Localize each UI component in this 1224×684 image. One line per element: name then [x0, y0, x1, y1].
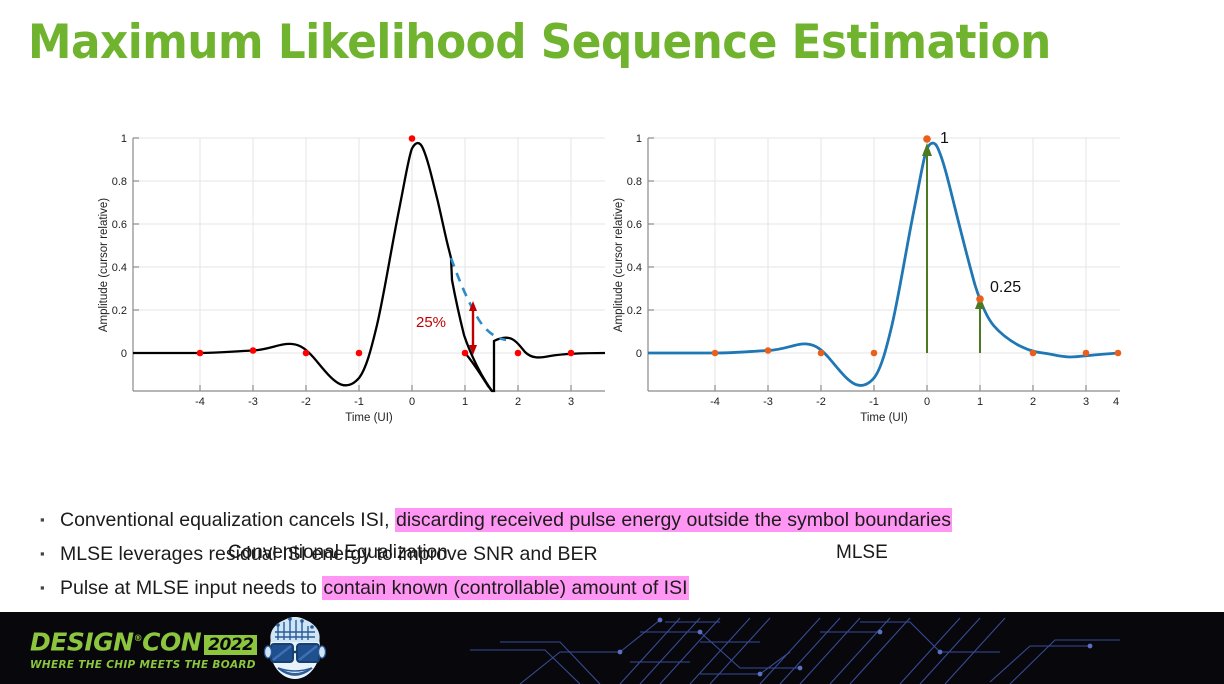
chart-left-svg: 1 0.8 0.6 0.4 0.2 0 -4 -3 -2 -1 0 1 2 3 [85, 110, 645, 470]
data-marker [515, 350, 522, 357]
bullet-list: ▪ Conventional equalization cancels ISI,… [40, 505, 1200, 607]
data-marker [923, 135, 931, 143]
y-tick-label: 0.2 [627, 305, 642, 317]
list-item: ▪ Pulse at MLSE input needs to contain k… [40, 573, 1200, 603]
annotation-25-percent-arrow [469, 301, 477, 355]
logo-con-text: CON [142, 627, 201, 656]
y-tick-label: 0.4 [112, 262, 127, 274]
data-marker [197, 350, 204, 357]
data-marker [818, 350, 825, 357]
bullet-text: MLSE leverages residual ISI energy to im… [60, 539, 1200, 569]
x-tick-label: -3 [248, 396, 258, 408]
list-item: ▪ MLSE leverages residual ISI energy to … [40, 539, 1200, 569]
data-marker [765, 347, 772, 354]
designcon-logo: DESIGN®CON2022 WHERE THE CHIP MEETS THE … [30, 626, 235, 670]
x-tick-label: 2 [1030, 396, 1036, 408]
y-axis-label: Amplitude (cursor relative) [613, 198, 625, 332]
chart-conventional-equalization: 1 0.8 0.6 0.4 0.2 0 -4 -3 -2 -1 0 1 2 3 [85, 110, 645, 470]
annotation-arrow-main [922, 143, 932, 353]
data-marker [1083, 350, 1090, 357]
logo-design-text: DESIGN [30, 627, 134, 656]
x-tick-label: 1 [977, 396, 983, 408]
annotation-label-main: 1 [940, 130, 949, 147]
series-mlse-pulse [648, 143, 1120, 385]
logo-tagline: WHERE THE CHIP MEETS THE BOARD [30, 659, 235, 671]
x-tick-label: 0 [924, 396, 930, 408]
series-unequalized-dashed [451, 258, 506, 340]
bullet-highlight: contain known (controllable) amount of I… [322, 576, 688, 600]
x-tick-labels: -4 -3 -2 -1 0 1 2 3 [195, 396, 574, 408]
x-tick-label: -3 [763, 396, 773, 408]
y-tick-label: 0.6 [112, 219, 127, 231]
y-tick-labels: 1 0.8 0.6 0.4 0.2 0 [627, 133, 642, 360]
x-tick-label: -4 [710, 396, 720, 408]
data-marker [1030, 350, 1037, 357]
bullet-marker-icon: ▪ [40, 539, 60, 569]
annotation-25-percent-label: 25% [416, 314, 446, 331]
data-marker [568, 350, 575, 357]
list-item: ▪ Conventional equalization cancels ISI,… [40, 505, 1200, 535]
data-marker [1115, 350, 1122, 357]
x-tick-label: -1 [869, 396, 879, 408]
x-tick-label: 0 [409, 396, 415, 408]
data-marker [356, 350, 363, 357]
x-tick-label: -4 [195, 396, 205, 408]
slide: Maximum Likelihood Sequence Estimation [0, 0, 1224, 684]
logo-registered-icon: ® [134, 634, 143, 644]
figure-area: 1 0.8 0.6 0.4 0.2 0 -4 -3 -2 -1 0 1 2 3 [0, 110, 1224, 470]
annotation-label-post-cursor: 0.25 [990, 279, 1021, 296]
x-axis-label: Time (UI) [345, 412, 393, 424]
y-axis-label: Amplitude (cursor relative) [98, 198, 110, 332]
y-tick-label: 1 [636, 133, 642, 145]
page-title: Maximum Likelihood Sequence Estimation [28, 12, 1125, 74]
markers-right [712, 135, 1122, 356]
footer-bar: DESIGN®CON2022 WHERE THE CHIP MEETS THE … [0, 612, 1224, 684]
x-tick-label: -2 [816, 396, 826, 408]
bullet-plain: Pulse at MLSE input needs to [60, 577, 322, 599]
y-tick-label: 0.2 [112, 305, 127, 317]
y-tick-label: 1 [121, 133, 127, 145]
x-tick-label: -1 [354, 396, 364, 408]
bullet-marker-icon: ▪ [40, 573, 60, 603]
chart-mlse: 1 0.8 0.6 0.4 0.2 0 -4 -3 -2 -1 0 1 2 3 … [600, 110, 1160, 470]
y-tick-label: 0.8 [112, 176, 127, 188]
bullet-text: Conventional equalization cancels ISI, d… [60, 505, 1200, 535]
y-tick-label: 0.8 [627, 176, 642, 188]
data-marker [409, 135, 416, 142]
x-tick-label: -2 [301, 396, 311, 408]
y-tick-label: 0 [636, 348, 642, 360]
bullet-plain: Conventional equalization cancels ISI, [60, 509, 395, 531]
bullet-text: Pulse at MLSE input needs to contain kno… [60, 573, 1200, 603]
bullet-plain: MLSE leverages residual ISI energy to im… [60, 543, 598, 565]
logo-year: 2022 [204, 635, 257, 655]
chart-right-svg: 1 0.8 0.6 0.4 0.2 0 -4 -3 -2 -1 0 1 2 3 … [600, 110, 1160, 470]
data-marker [250, 347, 257, 354]
x-tick-label: 2 [515, 396, 521, 408]
x-tick-label: 3 [568, 396, 574, 408]
x-tick-label: 4 [1113, 396, 1119, 408]
data-marker [462, 350, 469, 357]
x-tick-label: 1 [462, 396, 468, 408]
y-tick-label: 0.6 [627, 219, 642, 231]
data-marker [303, 350, 310, 357]
x-tick-label: 3 [1083, 396, 1089, 408]
y-tick-labels: 1 0.8 0.6 0.4 0.2 0 [112, 133, 127, 360]
bullet-highlight: discarding received pulse energy outside… [395, 508, 952, 532]
x-axis-label: Time (UI) [860, 412, 908, 424]
y-tick-label: 0.4 [627, 262, 642, 274]
bullet-marker-icon: ▪ [40, 505, 60, 535]
data-marker [976, 295, 984, 303]
data-marker [871, 350, 878, 357]
y-tick-label: 0 [121, 348, 127, 360]
series-equalized-tail [465, 353, 492, 391]
data-marker [712, 350, 719, 357]
x-tick-labels: -4 -3 -2 -1 0 1 2 3 4 [710, 396, 1119, 408]
designcon-wordmark: DESIGN®CON2022 [30, 626, 235, 658]
robot-mascot-icon [258, 612, 332, 684]
